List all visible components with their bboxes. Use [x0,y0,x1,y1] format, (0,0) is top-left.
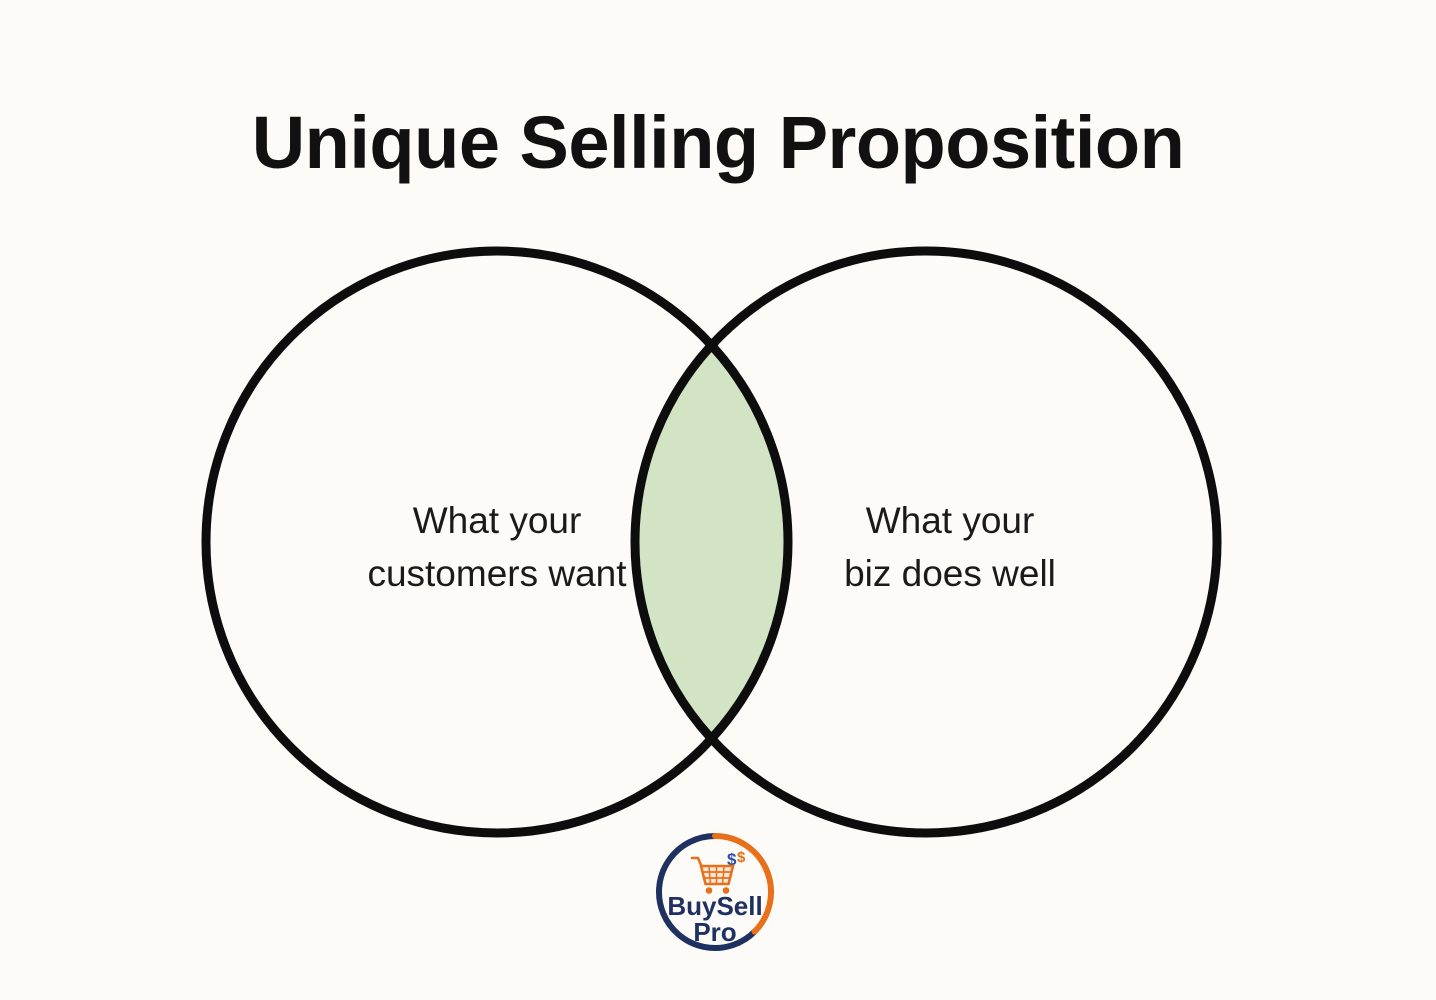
venn-label-business-line1: What your [700,495,1200,548]
venn-label-customers-line1: What your [247,495,747,548]
logo-artwork: $ $ BuySell [645,822,785,962]
buysellpro-logo: $ $ BuySell [645,822,785,962]
venn-label-business-line2: biz does well [700,548,1200,601]
logo-wordmark-line2: Pro [693,917,736,947]
venn-label-business: What your biz does well [700,495,1200,600]
logo-dollar-icon-secondary: $ [737,849,746,866]
venn-label-customers-line2: customers want [247,548,747,601]
slide-canvas: Unique Selling Proposition What your cus… [0,0,1436,1000]
venn-label-customers: What your customers want [247,495,747,600]
